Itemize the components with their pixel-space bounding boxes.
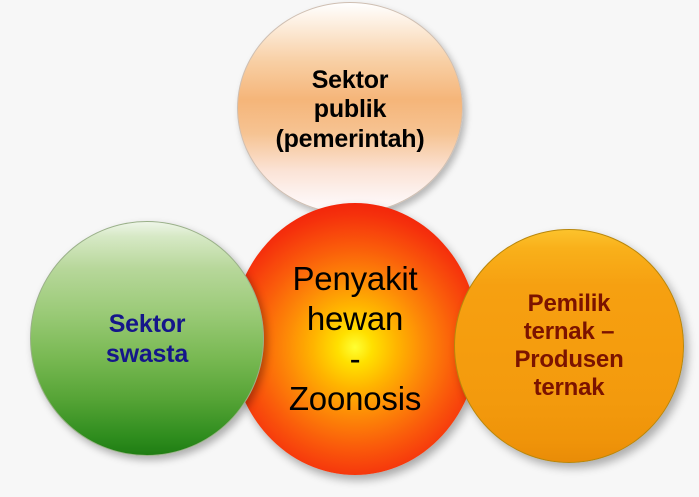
circle-private-sector[interactable]: Sektor swasta: [30, 221, 264, 456]
circle-livestock-owner-producer-label: Pemilik ternak – Produsen ternak: [455, 290, 683, 401]
venn-diagram: Sektor publik (pemerintah) Penyakit hewa…: [0, 0, 699, 497]
circle-animal-disease-zoonosis[interactable]: Penyakit hewan - Zoonosis: [231, 203, 479, 475]
circle-private-sector-label: Sektor swasta: [31, 309, 263, 369]
circle-livestock-owner-producer[interactable]: Pemilik ternak – Produsen ternak: [454, 229, 684, 463]
circle-animal-disease-zoonosis-label: Penyakit hewan - Zoonosis: [231, 259, 479, 420]
circle-public-sector-label: Sektor publik (pemerintah): [238, 62, 462, 155]
circle-public-sector[interactable]: Sektor publik (pemerintah): [237, 2, 463, 214]
